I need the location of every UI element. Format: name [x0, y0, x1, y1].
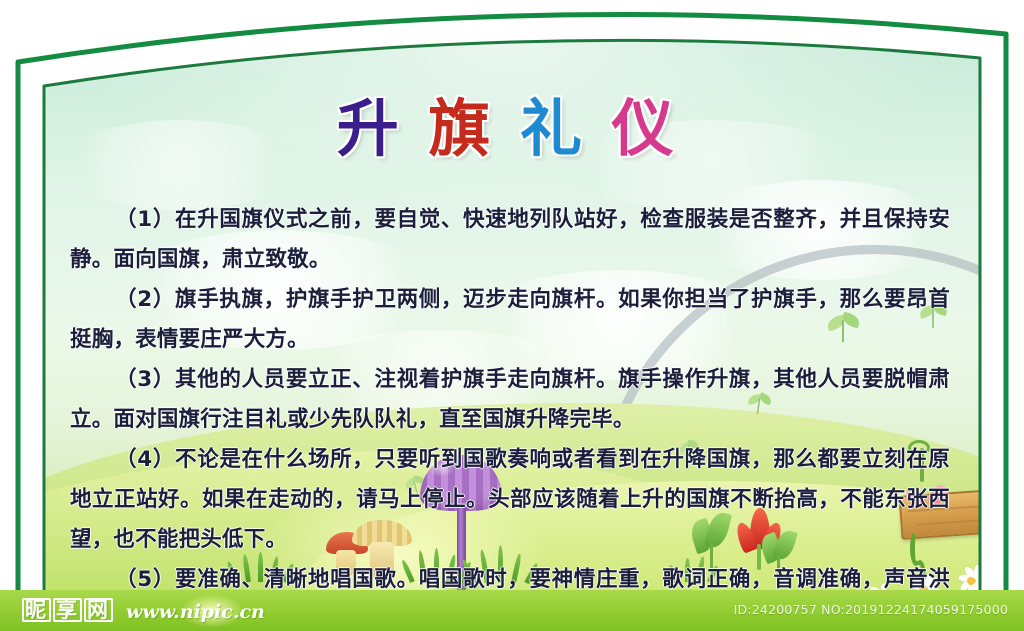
rule-paragraph-4: （4）不论是在什么场所，只要听到国歌奏响或者看到在升降国旗，那么都要立刻在原地立…	[70, 440, 950, 560]
rule-paragraph-1: （1）在升国旗仪式之前，要自觉、快速地列队站好，检查服装是否整齐，并且保持安静。…	[70, 200, 950, 280]
watermark-bar: 昵享网 www.nipic.cn ID:24200757 NO:20191224…	[0, 590, 1024, 631]
poster-root: 升旗礼仪 （1）在升国旗仪式之前，要自觉、快速地列队站好，检查服装是否整齐，并且…	[0, 0, 1024, 631]
logo-char-3: 网	[84, 598, 113, 622]
rule-paragraph-3: （3）其他的人员要立正、注视着护旗手走向旗杆。旗手操作升旗，其他人员要脱帽肃立。…	[70, 360, 950, 440]
image-id-text: ID:24200757 NO:20191224174059175000	[734, 602, 1008, 617]
site-logo: 昵享网	[22, 598, 115, 622]
title-char-1: 升	[329, 98, 421, 160]
site-url[interactable]: www.nipic.cn	[126, 601, 265, 623]
title-char-3: 礼	[512, 98, 604, 160]
logo-char-1: 昵	[22, 598, 51, 622]
poster-content: 升旗礼仪 （1）在升国旗仪式之前，要自觉、快速地列队站好，检查服装是否整齐，并且…	[62, 84, 962, 584]
logo-char-2: 享	[53, 598, 82, 622]
title-char-4: 仪	[604, 98, 696, 160]
title-char-2: 旗	[420, 98, 512, 160]
rule-paragraph-2: （2）旗手执旗，护旗手护卫两侧，迈步走向旗杆。如果你担当了护旗手，那么要昂首挺胸…	[70, 280, 950, 360]
poster-body: （1）在升国旗仪式之前，要自觉、快速地列队站好，检查服装是否整齐，并且保持安静。…	[62, 200, 962, 631]
poster-title: 升旗礼仪	[62, 98, 962, 160]
